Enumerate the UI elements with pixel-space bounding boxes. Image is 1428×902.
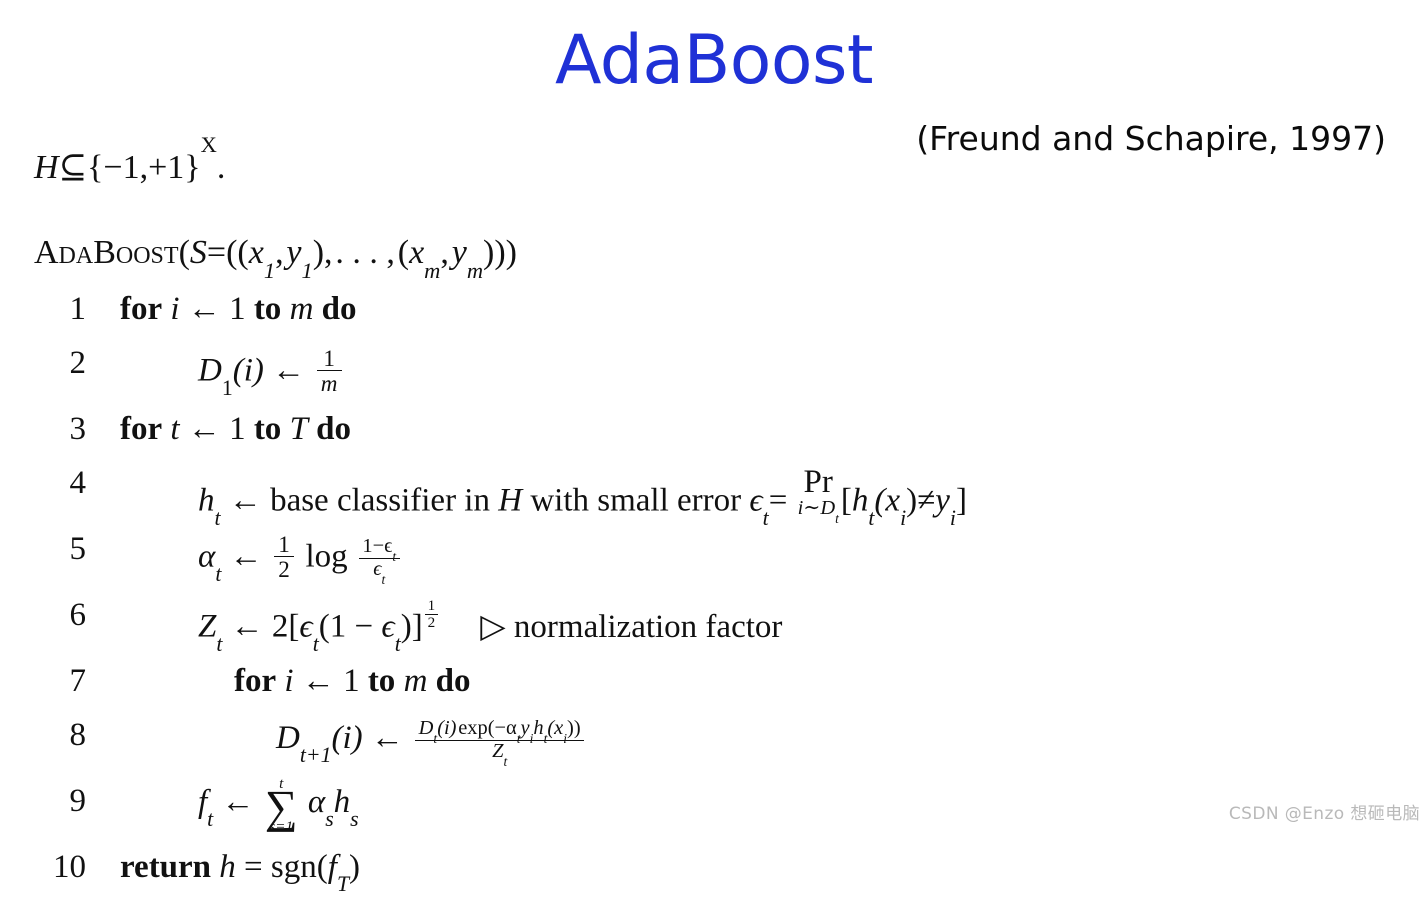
error-epsilon: ϵ [299,609,312,645]
update-numerator: Dt(i) exp(−αtyiht(xi)) [415,718,584,740]
distribution-index: 1 [222,376,233,400]
triangle-right-icon: ▷ [480,609,505,645]
fraction-weight-update: Dt(i) exp(−αtyiht(xi)) Zt [415,718,584,762]
hypothesis-h: h [198,482,215,518]
fraction-one-over-m: 1 m [317,346,342,396]
keyword-to: to [254,291,282,327]
line-number: 5 [34,530,86,567]
symbol-subset: ⊆ [59,149,88,186]
signature-args: ((x1, y1), . . . , (xm, ym))) [226,234,517,271]
error-index: t [395,632,401,656]
error-epsilon: ϵ [381,609,394,645]
coefficient-two-bracket: 2[ [272,609,300,645]
pr-distribution: i∼Dt [798,498,839,518]
line-number: 1 [34,290,86,327]
distribution-D: D [198,352,222,388]
arrow-left-icon: ← [272,352,305,388]
sgn-operator: sgn( [271,849,328,885]
line-number: 9 [34,782,86,819]
line-content: for t ← 1 to T do [86,410,1394,447]
normalizer-Z: Z [198,609,216,645]
arrow-left-icon: ← [188,411,221,447]
probability-operator: Pr i∼Dt [798,466,839,518]
odds-numerator: 1−ϵt [359,536,400,558]
loop-start: 1 [229,411,246,447]
loop-variable: i [284,663,293,699]
close-group: )] [401,609,423,645]
phrase-small-error: with small error [530,482,741,518]
sum-lower-limit: s=1 [269,819,293,834]
arrow-left-icon: ← [188,291,221,327]
arrow-left-icon: ← [371,720,404,756]
brace-close: } [184,149,200,186]
line-content: D1(i) ← 1 m [86,344,1394,396]
loop-start: 1 [343,663,360,699]
symbol-H: H [498,482,522,518]
algorithm-name: AdaBoost [34,234,179,271]
loop-start: 1 [229,291,246,327]
watermark: CSDN @Enzo 想砸电脑 [1229,799,1420,824]
phrase-base-classifier: base classifier in [270,482,490,518]
citation-reference: (Freund and Schapire, 1997) [916,117,1386,161]
not-equals-sign: ≠ [917,482,935,518]
symbol-H: H [34,149,59,186]
distribution-index: t+1 [300,743,332,767]
fraction-one-half: 1 2 [274,532,294,582]
sum-upper-limit: t [279,776,283,791]
arrow-left-icon: ← [302,663,335,699]
hypothesis-h: h [334,784,351,820]
equals-sign: = [769,482,788,518]
weight-index: s [325,807,333,831]
algorithm-signature: AdaBoost(S=((x1, y1), . . . , (xm, ym))) [34,235,517,271]
algorithm-line: 7 for i ← 1 to m do [34,662,1394,716]
algorithm-body: 1 for i ← 1 to m do 2 D1(i) ← 1 m 3 for … [34,290,1394,902]
bracket-close: ] [956,482,967,518]
close-paren: ) [906,482,917,518]
line-content: for i ← 1 to m do [86,290,1394,327]
error-index: t [763,506,769,530]
ensemble-f: f [198,784,207,820]
line-number: 3 [34,410,86,447]
line-number: 7 [34,662,86,699]
label-index: i [950,506,956,530]
algorithm-line: 8 Dt+1(i) ← Dt(i) exp(−αtyiht(xi)) Zt [34,716,1394,782]
hypothesis-space-line: H⊆{−1,+1}X. [34,150,225,186]
bracket-open: [ [841,482,852,518]
keyword-to: to [254,411,282,447]
arrow-left-icon: ← [230,538,263,574]
line-number: 10 [34,848,86,885]
algorithm-line: 5 αt ← 1 2 log 1−ϵt ϵt [34,530,1394,596]
update-denominator: Zt [415,740,584,763]
arrow-left-icon: ← [221,784,254,820]
input-index: i [900,506,906,530]
line-content: ht ← base classifier in H with small err… [86,464,1394,518]
weight-alpha: α [308,784,325,820]
close-paren: ) [349,849,360,885]
loop-limit: T [290,411,308,447]
equals-sign: = [244,849,263,885]
algorithm-line: 1 for i ← 1 to m do [34,290,1394,344]
line-content: αt ← 1 2 log 1−ϵt ϵt [86,530,1394,582]
line-number: 2 [34,344,86,381]
input-x: (x [874,482,900,518]
page-title: AdaBoost [0,20,1428,102]
symbol-S: S [190,234,207,271]
label-y: y [935,482,950,518]
comment-group: ▷ normalization factor [480,609,782,645]
algorithm-line: 4 ht ← base classifier in H with small e… [34,464,1394,530]
distribution-D: D [276,720,300,756]
loop-limit: m [404,663,428,699]
keyword-do: do [316,411,351,447]
line-number: 4 [34,464,86,501]
fraction-odds-ratio: 1−ϵt ϵt [359,536,400,580]
final-hypothesis-h: h [219,849,236,885]
equals-sign: = [207,234,226,271]
hypothesis-index: t [215,506,221,530]
period: . [217,149,226,186]
argument-i: (i) [233,352,264,388]
brace-open: { [87,149,103,186]
value-plus-one: +1 [148,149,184,186]
keyword-do: do [436,663,471,699]
algorithm-line: 10 return h = sgn(fT) [34,848,1394,902]
keyword-do: do [322,291,357,327]
algorithm-line: 2 D1(i) ← 1 m [34,344,1394,410]
algorithm-line: 6 Zt ← 2[ϵt(1 − ϵt)] 1 2 ▷ normalization… [34,596,1394,662]
loop-variable: t [170,411,179,447]
algorithm-line: 9 ft ← t ∑ s=1 αshs [34,782,1394,848]
keyword-for: for [234,663,276,699]
line-content: Dt+1(i) ← Dt(i) exp(−αtyiht(xi)) Zt [86,716,1394,762]
line-content: for i ← 1 to m do [86,662,1394,699]
arrow-left-icon: ← [229,482,262,518]
weight-index: t [215,562,221,586]
ensemble-f: f [328,849,337,885]
keyword-for: for [120,411,162,447]
ensemble-index: t [207,807,213,831]
error-epsilon: ϵ [749,482,762,518]
line-content: Zt ← 2[ϵt(1 − ϵt)] 1 2 ▷ normalization f… [86,596,1394,644]
argument-i: (i) [331,720,362,756]
line-number: 8 [34,716,86,753]
hypothesis-index: t [868,506,874,530]
algorithm-line: 3 for t ← 1 to T do [34,410,1394,464]
keyword-to: to [368,663,396,699]
line-number: 6 [34,596,86,633]
loop-variable: i [170,291,179,327]
normalizer-index: t [216,632,222,656]
comment-text: normalization factor [514,609,782,645]
pr-label: Pr [798,466,839,499]
value-minus-one: −1, [103,149,148,186]
log-operator: log [305,538,347,574]
loop-limit: m [290,291,314,327]
keyword-for: for [120,291,162,327]
error-index: t [313,632,319,656]
signature-open-paren: ( [179,234,190,271]
line-content: ft ← t ∑ s=1 αshs [86,782,1394,830]
line-content: return h = sgn(fT) [86,848,1394,885]
arrow-left-icon: ← [231,609,264,645]
open-group: (1 − [319,609,373,645]
weight-alpha: α [198,538,215,574]
keyword-return: return [120,849,211,885]
hypothesis-index: s [350,807,358,831]
ensemble-index: T [337,872,349,896]
hypothesis-h: h [852,482,869,518]
summation-operator: t ∑ s=1 [265,784,298,830]
exponent-one-half: 1 2 [425,598,438,631]
exponent-X: X [201,132,217,157]
